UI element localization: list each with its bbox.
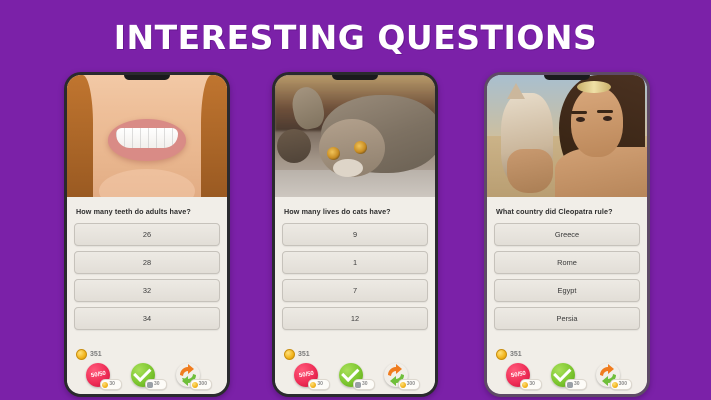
hint-5050-button[interactable]: 50/50 30 [504,363,540,390]
hint-cost: 300 [619,382,627,387]
hint-cost-badge: 30 [353,379,375,390]
answer-option[interactable]: 34 [74,307,220,330]
answer-list: Greece Rome Egypt Persia [494,223,640,330]
coin-icon [192,382,198,388]
coin-icon [102,382,108,388]
hint-cost-badge: 300 [610,379,632,390]
hint-5050-button[interactable]: 50/50 30 [292,363,328,390]
hint-cost: 30 [362,382,368,387]
answer-option[interactable]: 26 [74,223,220,246]
page-title: INTERESTING QUESTIONS [0,18,711,57]
coin-balance: 351 [282,345,428,362]
hint-cost: 30 [529,382,535,387]
answer-option[interactable]: 9 [282,223,428,246]
hint-cost-badge: 300 [398,379,420,390]
phone-mockup-3: What country did Cleopatra rule? Greece … [484,72,650,397]
answer-list: 9 1 7 12 [282,223,428,330]
hint-skip-question-button[interactable]: 300 [594,363,630,390]
phone-footer-2: 351 50/50 30 [282,345,428,394]
answer-option[interactable]: 7 [282,279,428,302]
hint-skip-question-button[interactable]: 300 [174,363,210,390]
hint-actions: 50/50 30 [74,362,220,390]
question-text: What country did Cleopatra rule? [496,207,638,216]
phone-notch-icon [332,75,378,80]
question-panel-1: How many teeth do adults have? 26 28 32 … [67,197,227,394]
hint-5050-button[interactable]: 50/50 30 [84,363,120,390]
hint-cost-badge: 300 [190,379,212,390]
phone-screen-1: How many teeth do adults have? 26 28 32 … [67,75,227,394]
phone-notch-icon [124,75,170,80]
hint-5050-label: 50/50 [90,371,106,380]
hint-cost-badge: 30 [520,379,542,390]
hint-cost-badge: 30 [145,379,167,390]
cat-lying-photo [275,75,435,197]
question-panel-2: How many lives do cats have? 9 1 7 12 35… [275,197,435,394]
answer-option[interactable]: 1 [282,251,428,274]
coin-count: 351 [510,351,522,358]
hint-5050-label: 50/50 [298,371,314,380]
hint-correct-answer-button[interactable]: 30 [129,363,165,390]
coin-icon [400,382,406,388]
coin-count: 351 [90,351,102,358]
hint-actions: 50/50 30 [494,362,640,390]
hint-cost: 300 [407,382,415,387]
phone-footer-1: 351 50/50 30 [74,345,220,394]
coin-icon [76,349,87,360]
answer-option[interactable]: 28 [74,251,220,274]
video-icon [355,382,361,388]
coin-icon [612,382,618,388]
phone-mockup-2: How many lives do cats have? 9 1 7 12 35… [272,72,438,397]
hint-cost: 30 [317,382,323,387]
answer-list: 26 28 32 34 [74,223,220,330]
smiling-teeth-photo [67,75,227,197]
hint-skip-question-button[interactable]: 300 [382,363,418,390]
video-icon [147,382,153,388]
answer-option[interactable]: 12 [282,307,428,330]
coin-icon [496,349,507,360]
coin-icon [284,349,295,360]
cleopatra-with-cat-photo [487,75,647,197]
phone-mockup-1: How many teeth do adults have? 26 28 32 … [64,72,230,397]
coin-balance: 351 [74,345,220,362]
hint-cost-badge: 30 [100,379,122,390]
hint-cost-badge: 30 [565,379,587,390]
coin-icon [522,382,528,388]
answer-option[interactable]: 32 [74,279,220,302]
hint-cost-badge: 30 [308,379,330,390]
answer-option[interactable]: Persia [494,307,640,330]
hint-cost: 30 [154,382,160,387]
hint-correct-answer-button[interactable]: 30 [337,363,373,390]
phone-screen-2: How many lives do cats have? 9 1 7 12 35… [275,75,435,394]
coin-count: 351 [298,351,310,358]
coin-balance: 351 [494,345,640,362]
coin-icon [310,382,316,388]
hint-actions: 50/50 30 [282,362,428,390]
phone-screen-3: What country did Cleopatra rule? Greece … [487,75,647,394]
question-text: How many lives do cats have? [284,207,426,216]
question-panel-3: What country did Cleopatra rule? Greece … [487,197,647,394]
hint-cost: 30 [109,382,115,387]
hint-cost: 300 [199,382,207,387]
phone-showcase: How many teeth do adults have? 26 28 32 … [0,72,711,400]
answer-option[interactable]: Greece [494,223,640,246]
phone-notch-icon [544,75,590,80]
video-icon [567,382,573,388]
answer-option[interactable]: Egypt [494,279,640,302]
question-text: How many teeth do adults have? [76,207,218,216]
phone-footer-3: 351 50/50 30 [494,345,640,394]
hint-5050-label: 50/50 [510,371,526,380]
hint-cost: 30 [574,382,580,387]
answer-option[interactable]: Rome [494,251,640,274]
hint-correct-answer-button[interactable]: 30 [549,363,585,390]
